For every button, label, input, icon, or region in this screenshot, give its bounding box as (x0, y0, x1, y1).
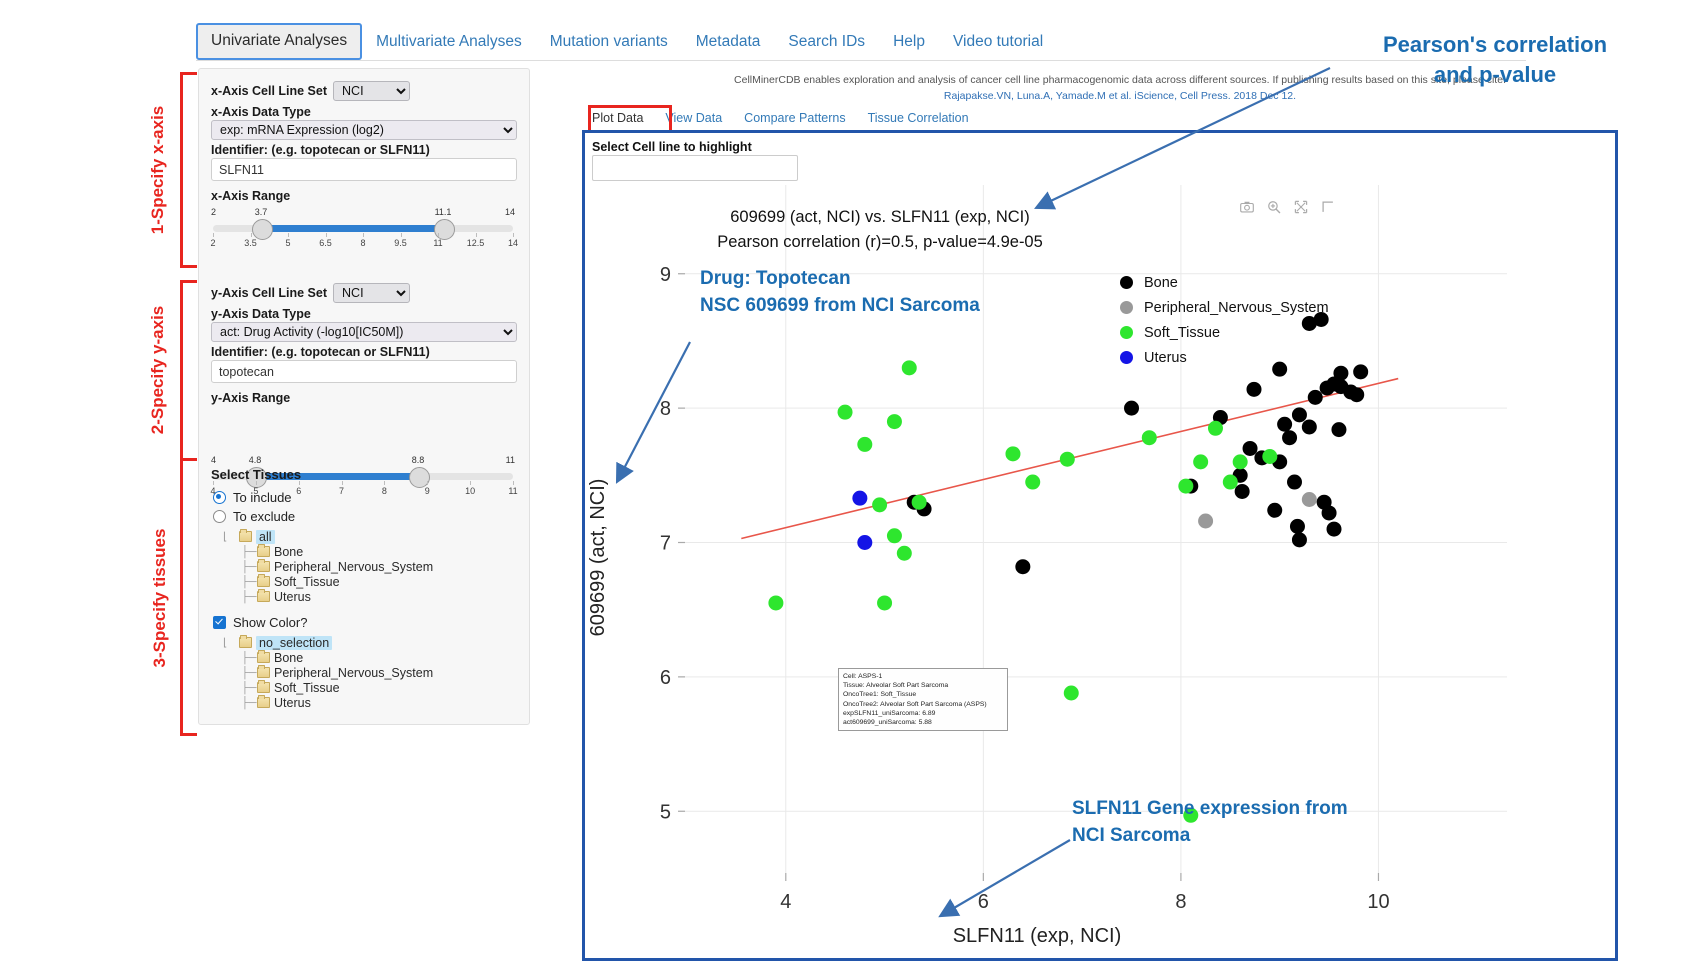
tree-item[interactable]: ├─Soft_Tissue (241, 680, 433, 695)
legend-color-dot (1120, 301, 1133, 314)
slider-tick (470, 481, 471, 485)
annotation-gene-line2: NCI Sarcoma (1072, 822, 1348, 849)
x-tick-label: 10 (1367, 891, 1389, 913)
slider-tick-label: 8 (360, 238, 365, 248)
y-tick-label: 9 (660, 264, 671, 286)
folder-icon (257, 591, 270, 602)
annotation-gene: SLFN11 Gene expression from NCI Sarcoma (1072, 795, 1348, 849)
x-range-min: 2 (211, 207, 216, 217)
tooltip-line: Cell: ASPS-1 (843, 672, 1003, 681)
scatter-point[interactable] (1267, 503, 1282, 518)
tissue-include-label: To include (233, 490, 292, 505)
slider-tick-label: 12.5 (467, 238, 485, 248)
legend-item[interactable]: Bone (1120, 270, 1329, 295)
scatter-point[interactable] (1282, 430, 1297, 445)
scatter-point[interactable] (1193, 454, 1208, 469)
scatter-point[interactable] (1262, 449, 1277, 464)
annotation-drug: Drug: Topotecan NSC 609699 from NCI Sarc… (700, 265, 980, 319)
tree-branch-icon: ├─ (241, 576, 253, 588)
show-color-label: Show Color? (233, 615, 307, 630)
tree-item-label: Bone (274, 651, 303, 665)
y-range-low-value: 4.8 (249, 455, 262, 465)
legend-label: Uterus (1144, 350, 1187, 366)
y-tick-label: 8 (660, 398, 671, 420)
scatter-point[interactable] (1124, 401, 1139, 416)
slider-tick (513, 481, 514, 485)
annotation-pearson: Pearson's correlation and p-value (1330, 30, 1660, 90)
x-identifier-input[interactable] (211, 158, 517, 181)
x-range-slider[interactable]: 2 14 3.7 11.1 23.556.589.51112.514 (209, 205, 517, 251)
scatter-point[interactable] (1235, 484, 1250, 499)
tree-branch-icon: ├─ (241, 561, 253, 573)
folder-icon (257, 546, 270, 557)
tree-branch-icon: ├─ (241, 682, 253, 694)
legend-item[interactable]: Peripheral_Nervous_System (1120, 295, 1329, 320)
slider-tick (401, 233, 402, 237)
x-range-high-value: 11.1 (435, 207, 452, 217)
scatter-point[interactable] (877, 595, 892, 610)
x-identifier-wrap (211, 158, 517, 181)
nav-tab-search-ids[interactable]: Search IDs (774, 25, 879, 60)
scatter-point[interactable] (1331, 422, 1346, 437)
step2-bracket (180, 280, 197, 461)
scatter-point[interactable] (1025, 475, 1040, 490)
tree-item-label: Bone (274, 545, 303, 559)
x-data-type-wrap: exp: mRNA Expression (log2) (211, 120, 517, 140)
y-identifier-wrap (211, 360, 517, 383)
slider-tick-label: 7 (339, 486, 344, 496)
x-cell-line-set-row: x-Axis Cell Line Set NCI (211, 81, 410, 101)
scatter-point[interactable] (1320, 380, 1335, 395)
slider-tick-label: 11 (508, 486, 517, 496)
scatter-point[interactable] (902, 360, 917, 375)
legend-label: Soft_Tissue (1144, 325, 1220, 341)
slider-tick-label: 5 (285, 238, 290, 248)
step3-bracket (180, 458, 197, 736)
y-cell-line-set-row: y-Axis Cell Line Set NCI (211, 283, 410, 303)
tree-branch-icon: ├─ (241, 546, 253, 558)
slider-tick-label: 6.5 (319, 238, 332, 248)
scatter-point[interactable] (1302, 419, 1317, 434)
scatter-point[interactable] (1349, 387, 1364, 402)
tree-branch-icon: ├─ (241, 697, 253, 709)
tree-item[interactable]: ├─Peripheral_Nervous_System (241, 665, 433, 680)
scatter-point[interactable] (1005, 446, 1020, 461)
x-slider-fill (257, 225, 439, 232)
nav-tab-univariate-analyses[interactable]: Univariate Analyses (196, 23, 362, 60)
scatter-point[interactable] (1198, 514, 1213, 529)
slider-tick (476, 233, 477, 237)
folder-icon (239, 531, 252, 542)
scatter-point[interactable] (1243, 441, 1258, 456)
scatter-point[interactable] (1208, 421, 1223, 436)
scatter-point[interactable] (1233, 454, 1248, 469)
tree-root-no-selection[interactable]: ⌊ no_selection (223, 635, 433, 650)
tree-item[interactable]: ├─Uterus (241, 589, 433, 604)
folder-icon (257, 697, 270, 708)
folder-icon-2 (239, 637, 252, 648)
slider-tick (251, 233, 252, 237)
nav-tabs: Univariate AnalysesMultivariate Analyses… (196, 24, 1526, 60)
y-identifier-label: Identifier: (e.g. topotecan or SLFN11) (211, 345, 430, 359)
slider-tick (427, 481, 428, 485)
x-cell-line-set-select[interactable]: NCI (333, 81, 410, 101)
tissue-exclude-radio-row[interactable]: To exclude (213, 509, 295, 524)
y-cell-line-set-select[interactable]: NCI (333, 283, 410, 303)
scatter-point[interactable] (1287, 475, 1302, 490)
tissue-tree-include: ⌊ all ├─Bone├─Peripheral_Nervous_System├… (223, 529, 433, 604)
legend-item[interactable]: Uterus (1120, 345, 1329, 370)
control-panel: x-Axis Cell Line Set NCI x-Axis Data Typ… (198, 68, 530, 725)
y-axis-label: 609699 (act, NCI) (587, 479, 609, 637)
scatter-point[interactable] (1290, 519, 1305, 534)
slider-tick (363, 233, 364, 237)
legend-color-dot (1120, 276, 1133, 289)
nav-tab-multivariate-analyses[interactable]: Multivariate Analyses (362, 25, 536, 60)
slider-tick-label: 9.5 (394, 238, 407, 248)
slider-tick-label: 14 (508, 238, 518, 248)
scatter-point[interactable] (1322, 505, 1337, 520)
slider-tick (213, 233, 214, 237)
slider-tick-label: 11 (433, 238, 442, 248)
step2-label: 2-Specify y-axis (148, 290, 168, 450)
slider-tick (384, 481, 385, 485)
scatter-point[interactable] (887, 528, 902, 543)
slider-tick (513, 233, 514, 237)
scatter-point[interactable] (1327, 522, 1342, 537)
show-color-row[interactable]: Show Color? (213, 615, 307, 630)
sub-tab-tissue-correlation[interactable]: Tissue Correlation (868, 111, 969, 125)
nav-tab-help[interactable]: Help (879, 25, 939, 60)
tree-item[interactable]: ├─Bone (241, 544, 433, 559)
tree-item[interactable]: ├─Peripheral_Nervous_System (241, 559, 433, 574)
slider-tick (288, 233, 289, 237)
legend-item[interactable]: Soft_Tissue (1120, 320, 1329, 345)
tissue-include-radio-row[interactable]: To include (213, 490, 292, 505)
scatter-point[interactable] (1064, 686, 1079, 701)
tree-item-label: Peripheral_Nervous_System (274, 560, 433, 574)
x-slider-ticks: 23.556.589.51112.514 (213, 233, 513, 249)
x-tick-label: 4 (780, 891, 791, 913)
y-data-type-wrap: act: Drug Activity (-log10[IC50M]) (211, 322, 517, 342)
scatter-point[interactable] (1302, 492, 1317, 507)
tree-item[interactable]: ├─Uterus (241, 695, 433, 710)
scatter-point[interactable] (857, 437, 872, 452)
main-tab-bar: Univariate AnalysesMultivariate Analyses… (196, 24, 1526, 61)
tree-branch-icon: ├─ (241, 591, 253, 603)
y-tick-label: 6 (660, 667, 671, 689)
point-tooltip: Cell: ASPS-1Tissue: Alveolar Soft Part S… (838, 668, 1008, 731)
slider-tick-label: 6 (296, 486, 301, 496)
tissue-exclude-label: To exclude (233, 509, 295, 524)
scatter-point[interactable] (1308, 390, 1323, 405)
legend-color-dot (1120, 351, 1133, 364)
scatter-point[interactable] (1353, 364, 1368, 379)
y-range-high-value: 8.8 (412, 455, 425, 465)
y-tick-label: 5 (660, 801, 671, 823)
step3-label: 3-Specify tissues (150, 508, 170, 688)
annotation-drug-line1: Drug: Topotecan (700, 265, 980, 292)
y-tick-label: 7 (660, 533, 671, 555)
x-tick-label: 6 (978, 891, 989, 913)
scatter-point[interactable] (768, 595, 783, 610)
slider-tick (342, 481, 343, 485)
plot-legend: BonePeripheral_Nervous_SystemSoft_Tissue… (1120, 270, 1329, 370)
tree-expand-icon-2[interactable]: ⌊ (223, 636, 235, 649)
tissue-tree-noselection: ⌊ no_selection ├─Bone├─Peripheral_Nervou… (223, 635, 433, 710)
step1-label: 1-Specify x-axis (148, 90, 168, 250)
scatter-point[interactable] (1060, 452, 1075, 467)
tree-branch-icon: ├─ (241, 652, 253, 664)
x-cell-line-set-label: x-Axis Cell Line Set (211, 84, 327, 98)
sub-tab-view-data[interactable]: View Data (665, 111, 722, 125)
scatter-point[interactable] (857, 535, 872, 550)
tree-item-label: Soft_Tissue (274, 575, 340, 589)
slider-tick (438, 233, 439, 237)
scatter-point[interactable] (872, 497, 887, 512)
folder-icon (257, 652, 270, 663)
nav-tab-mutation-variants[interactable]: Mutation variants (536, 25, 682, 60)
tooltip-line: expSLFN11_uniSarcoma: 6.89 (843, 709, 1003, 718)
scatter-point[interactable] (1178, 479, 1193, 494)
plot-title: 609699 (act, NCI) vs. SLFN11 (exp, NCI) (600, 205, 1160, 230)
x-range-low-value: 3.7 (255, 207, 268, 217)
slider-tick-label: 3.5 (244, 238, 257, 248)
scatter-point[interactable] (1223, 475, 1238, 490)
y-range-max: 11 (506, 455, 515, 465)
tree-item-label: Peripheral_Nervous_System (274, 666, 433, 680)
x-data-type-label: x-Axis Data Type (211, 105, 311, 119)
legend-label: Peripheral_Nervous_System (1144, 300, 1329, 316)
select-tissues-title: Select Tissues (211, 467, 301, 482)
y-range-label: y-Axis Range (211, 391, 290, 405)
scatter-point[interactable] (1292, 532, 1307, 547)
y-range-min: 4 (211, 455, 216, 465)
scatter-point[interactable] (1292, 407, 1307, 422)
x-range-label: x-Axis Range (211, 189, 290, 203)
annotation-drug-line2: NSC 609699 from NCI Sarcoma (700, 292, 980, 319)
nav-tab-video-tutorial[interactable]: Video tutorial (939, 25, 1057, 60)
legend-label: Bone (1144, 275, 1178, 291)
nav-tab-metadata[interactable]: Metadata (682, 25, 775, 60)
tooltip-line: OncoTree1: Soft_Tissue (843, 690, 1003, 699)
tree-root-no-selection-label: no_selection (256, 636, 332, 650)
y-cell-line-set-label: y-Axis Cell Line Set (211, 286, 327, 300)
plot-title-block: 609699 (act, NCI) vs. SLFN11 (exp, NCI) … (600, 205, 1160, 255)
radio-exclude-icon[interactable] (213, 510, 226, 523)
x-identifier-label: Identifier: (e.g. topotecan or SLFN11) (211, 143, 430, 157)
citation-line-2[interactable]: Rajapakse.VN, Luna.A, Yamade.M et al. iS… (640, 88, 1600, 104)
tree-expand-icon[interactable]: ⌊ (223, 530, 235, 543)
tree-branch-icon: ├─ (241, 667, 253, 679)
sub-tab-compare-patterns[interactable]: Compare Patterns (744, 111, 845, 125)
scatter-point[interactable] (1015, 559, 1030, 574)
slider-tick-label: 9 (425, 486, 430, 496)
slider-tick-label: 10 (465, 486, 475, 496)
tree-item[interactable]: ├─Soft_Tissue (241, 574, 433, 589)
y-data-type-select[interactable]: act: Drug Activity (-log10[IC50M]) (211, 322, 517, 342)
show-color-checkbox-icon[interactable] (213, 616, 226, 629)
tree-items-2: ├─Bone├─Peripheral_Nervous_System├─Soft_… (223, 650, 433, 710)
folder-icon (257, 561, 270, 572)
tree-root-all[interactable]: ⌊ all (223, 529, 433, 544)
tree-root-all-label: all (256, 530, 275, 544)
tooltip-line: act609699_uniSarcoma: 5.88 (843, 718, 1003, 727)
annotation-gene-line1: SLFN11 Gene expression from (1072, 795, 1348, 822)
tree-item-label: Uterus (274, 590, 311, 604)
x-data-type-select[interactable]: exp: mRNA Expression (log2) (211, 120, 517, 140)
tree-items: ├─Bone├─Peripheral_Nervous_System├─Soft_… (223, 544, 433, 604)
y-data-type-label: y-Axis Data Type (211, 307, 311, 321)
scatter-point[interactable] (897, 546, 912, 561)
scatter-point[interactable] (1277, 417, 1292, 432)
scatter-point[interactable] (852, 491, 867, 506)
radio-include-icon[interactable] (213, 491, 226, 504)
x-tick-label: 8 (1175, 891, 1186, 913)
tooltip-line: Tissue: Alveolar Soft Part Sarcoma (843, 681, 1003, 690)
scatter-point[interactable] (887, 414, 902, 429)
x-range-max: 14 (505, 207, 515, 217)
legend-color-dot (1120, 326, 1133, 339)
plot-subtitle: Pearson correlation (r)=0.5, p-value=4.9… (600, 230, 1160, 255)
scatter-point[interactable] (912, 495, 927, 510)
tree-item-label: Uterus (274, 696, 311, 710)
slider-tick-label: 8 (382, 486, 387, 496)
step1-bracket (180, 72, 197, 268)
slider-tick (326, 233, 327, 237)
tooltip-line: OncoTree2: Alveolar Soft Part Sarcoma (A… (843, 700, 1003, 709)
scatter-point[interactable] (838, 405, 853, 420)
slider-tick-label: 2 (210, 238, 215, 248)
scatter-point[interactable] (1247, 382, 1262, 397)
y-identifier-input[interactable] (211, 360, 517, 383)
folder-icon (257, 682, 270, 693)
folder-icon (257, 576, 270, 587)
scatter-point[interactable] (1142, 430, 1157, 445)
folder-icon (257, 667, 270, 678)
tree-item-label: Soft_Tissue (274, 681, 340, 695)
tree-item[interactable]: ├─Bone (241, 650, 433, 665)
x-axis-label: SLFN11 (exp, NCI) (953, 925, 1122, 947)
